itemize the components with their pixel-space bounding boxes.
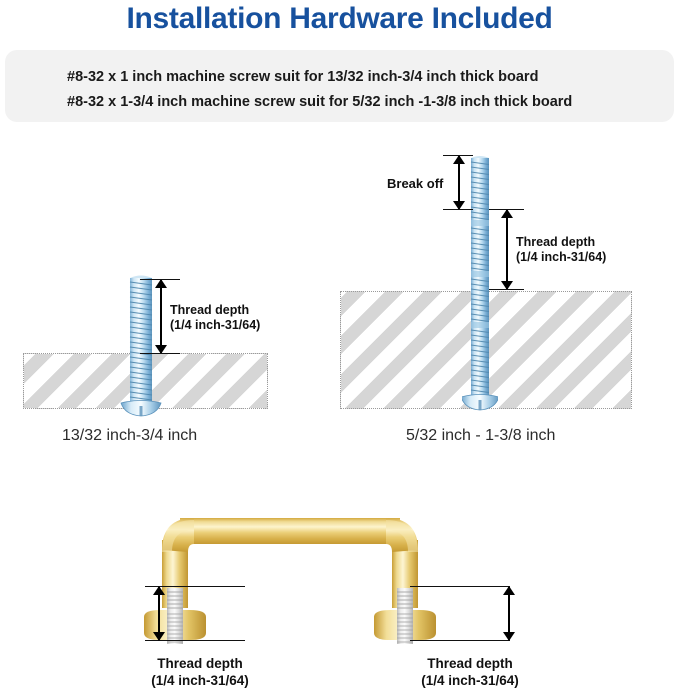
cabinet-handle-graphic (140, 510, 540, 655)
screw-long-breakoff (462, 154, 498, 416)
installation-hardware-page: Installation Hardware Included #8-32 x 1… (0, 0, 679, 690)
handle-right-caption-line-1: Thread depth (365, 655, 575, 672)
handle-left-arrow-top (153, 586, 165, 595)
handle-left-caption: Thread depth (1/4 inch-31/64) (95, 655, 305, 689)
handle-left-caption-line-1: Thread depth (95, 655, 305, 672)
breakoff-label: Break off (387, 176, 443, 191)
right-thread-depth-line-2: (1/4 inch-31/64) (516, 250, 606, 265)
left-dim-arrow-top (155, 279, 167, 288)
left-dim-tick-top (140, 279, 180, 280)
left-board-caption: 13/32 inch-3/4 inch (62, 427, 197, 445)
cabinet-handle-diagram: Thread depth (1/4 inch-31/64) Thread dep… (0, 500, 679, 690)
screw-diagrams: Thread depth (1/4 inch-31/64) 13/32 inch… (0, 140, 679, 460)
left-thread-depth-line-2: (1/4 inch-31/64) (170, 318, 260, 333)
right-thread-depth-label: Thread depth (1/4 inch-31/64) (516, 235, 606, 265)
right-thread-depth-line-1: Thread depth (516, 235, 606, 250)
handle-right-arrow-top (503, 586, 515, 595)
hardware-info-line-2: #8-32 x 1-3/4 inch machine screw suit fo… (67, 94, 572, 110)
left-dim-vertical-line (160, 280, 162, 354)
right-board-caption: 5/32 inch - 1-3/8 inch (406, 427, 555, 445)
left-thread-depth-label: Thread depth (1/4 inch-31/64) (170, 303, 260, 333)
right-dim-vertical-line (506, 210, 508, 290)
handle-right-caption-line-2: (1/4 inch-31/64) (365, 672, 575, 689)
right-dim-tick-top (489, 209, 524, 210)
page-title: Installation Hardware Included (0, 2, 679, 36)
right-dim-arrow-top (501, 209, 513, 218)
handle-left-caption-line-2: (1/4 inch-31/64) (95, 672, 305, 689)
breakoff-dim-tick-top (443, 155, 473, 156)
breakoff-dim-arrow-top (453, 155, 465, 164)
hardware-info-line-1: #8-32 x 1 inch machine screw suit for 13… (67, 69, 538, 85)
hardware-info-box: #8-32 x 1 inch machine screw suit for 13… (5, 50, 674, 122)
right-dim-tick-bottom (489, 289, 524, 290)
handle-right-tick-top (410, 586, 510, 587)
breakoff-dim-tick-bottom (443, 209, 473, 210)
handle-left-arrow-bottom (153, 632, 165, 641)
handle-right-arrow-bottom (503, 632, 515, 641)
left-thread-depth-line-1: Thread depth (170, 303, 260, 318)
handle-right-caption: Thread depth (1/4 inch-31/64) (365, 655, 575, 689)
left-dim-tick-bottom (140, 353, 180, 354)
handle-right-tick-bottom (410, 640, 510, 641)
